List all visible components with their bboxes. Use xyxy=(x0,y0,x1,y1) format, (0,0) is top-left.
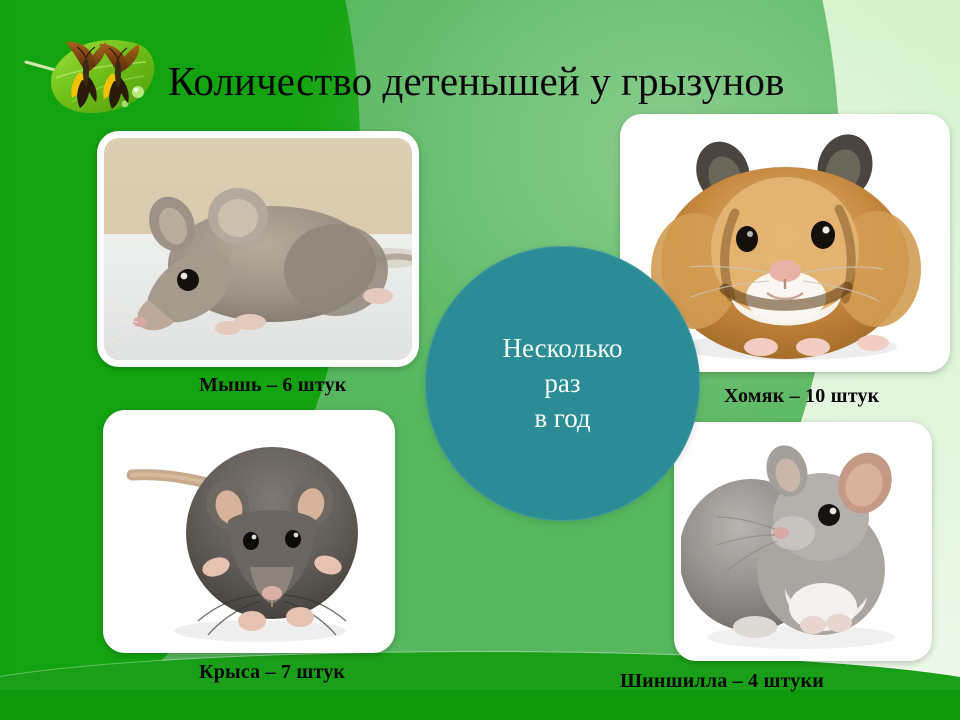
slide-title: Количество детенышей у грызунов xyxy=(168,60,958,103)
background-bottom-band-lower xyxy=(0,690,960,720)
mouse-photo xyxy=(104,138,412,360)
caption-hamster: Хомяк – 10 штук xyxy=(724,385,879,408)
frequency-line-2: раз xyxy=(544,366,580,401)
photo-card-mouse xyxy=(97,131,419,367)
chinchilla-photo xyxy=(681,429,925,654)
frequency-line-1: Несколько xyxy=(502,331,622,366)
frequency-badge: Несколько раз в год xyxy=(425,246,700,521)
background-left-strip xyxy=(0,0,16,720)
caption-chinchilla: Шиншилла – 4 штуки xyxy=(620,670,824,693)
slide-root: Количество детенышей у грызунов xyxy=(0,0,960,720)
butterflies-on-leaf-icon xyxy=(22,18,172,122)
photo-card-rat xyxy=(103,410,395,653)
caption-rat: Крыса – 7 штук xyxy=(199,661,345,684)
frequency-line-3: в год xyxy=(534,401,590,436)
caption-mouse: Мышь – 6 штук xyxy=(199,374,347,397)
rat-photo xyxy=(110,417,388,646)
photo-card-chinchilla xyxy=(674,422,932,661)
